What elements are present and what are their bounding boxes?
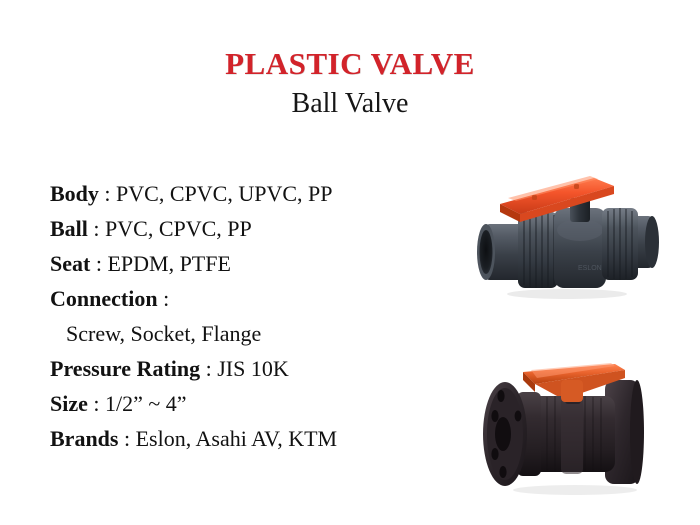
spec-label-body: Body [50, 181, 99, 206]
spec-label-ball: Ball [50, 216, 88, 241]
spec-label-seat: Seat [50, 251, 90, 276]
spec-row-pressure-rating: Pressure Rating : JIS 10K [50, 351, 450, 386]
spec-row-size: Size : 1/2” ~ 4” [50, 386, 450, 421]
spec-row-seat: Seat : EPDM, PTFE [50, 246, 450, 281]
page-subtitle: Ball Valve [0, 89, 700, 118]
slide-canvas: PLASTIC VALVE Ball Valve Body : PVC, CPV… [0, 0, 700, 525]
spec-value-seat: EPDM, PTFE [107, 251, 230, 276]
spec-separator: : [88, 391, 105, 416]
spec-row-brands: Brands : Eslon, Asahi AV, KTM [50, 421, 450, 456]
spec-value-brands: Eslon, Asahi AV, KTM [136, 426, 338, 451]
svg-text:ESLON: ESLON [578, 265, 602, 272]
spec-separator: : [99, 181, 116, 206]
spec-row-body: Body : PVC, CPVC, UPVC, PP [50, 176, 450, 211]
spec-separator: : [118, 426, 135, 451]
valve-union-nut-left [518, 212, 558, 288]
flange-bolt-hole [499, 466, 506, 478]
spec-separator: : [158, 286, 170, 311]
product-image-flanged-ball-valve [465, 358, 675, 510]
valve-flange-left [483, 382, 541, 486]
spec-value-size: 1/2” ~ 4” [105, 391, 187, 416]
spec-label-pressure-rating: Pressure Rating [50, 356, 200, 381]
spec-value-connection-options: Screw, Socket, Flange [66, 321, 261, 346]
flange-bolt-hole [497, 390, 504, 402]
flange-bolt-hole [491, 410, 498, 422]
spec-row-ball: Ball : PVC, CPVC, PP [50, 211, 450, 246]
title-block: PLASTIC VALVE Ball Valve [0, 48, 700, 118]
spec-row-connection-options: Screw, Socket, Flange [50, 316, 450, 351]
spec-label-size: Size [50, 391, 88, 416]
spec-value-pressure-rating: JIS 10K [217, 356, 289, 381]
product-image-true-union-ball-valve: ESLON [462, 168, 677, 313]
flange-bolt-hole [491, 448, 498, 460]
spec-separator: : [88, 216, 105, 241]
spec-value-ball: PVC, CPVC, PP [105, 216, 252, 241]
spec-label-connection: Connection [50, 286, 158, 311]
valve-union-nut-right [602, 208, 638, 280]
valve-socket-left [477, 224, 524, 280]
spec-separator: : [200, 356, 217, 381]
page-title: PLASTIC VALVE [0, 48, 700, 81]
specification-list: Body : PVC, CPVC, UPVC, PP Ball : PVC, C… [50, 176, 450, 456]
spec-label-brands: Brands [50, 426, 118, 451]
spec-value-body: PVC, CPVC, UPVC, PP [116, 181, 332, 206]
flange-bore [495, 417, 511, 451]
spec-separator: : [90, 251, 107, 276]
spec-row-connection: Connection : [50, 281, 450, 316]
flange-bolt-hole [515, 411, 522, 422]
